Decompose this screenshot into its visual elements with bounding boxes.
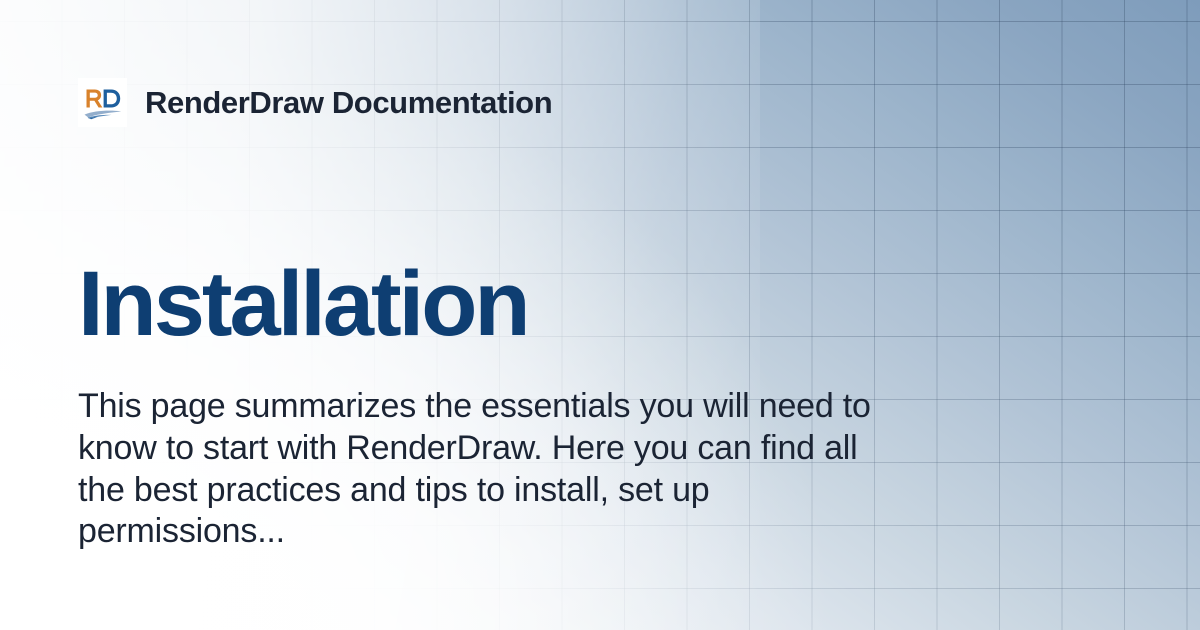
renderdraw-logo-icon	[78, 78, 127, 127]
documentation-social-banner: RenderDraw Documentation Installation Th…	[0, 0, 1200, 630]
page-description: This page summarizes the essentials you …	[78, 386, 878, 553]
brand-header: RenderDraw Documentation	[78, 78, 552, 127]
page-title: Installation	[78, 258, 528, 350]
brand-title: RenderDraw Documentation	[145, 87, 552, 118]
banner-content: RenderDraw Documentation Installation Th…	[0, 0, 1200, 630]
